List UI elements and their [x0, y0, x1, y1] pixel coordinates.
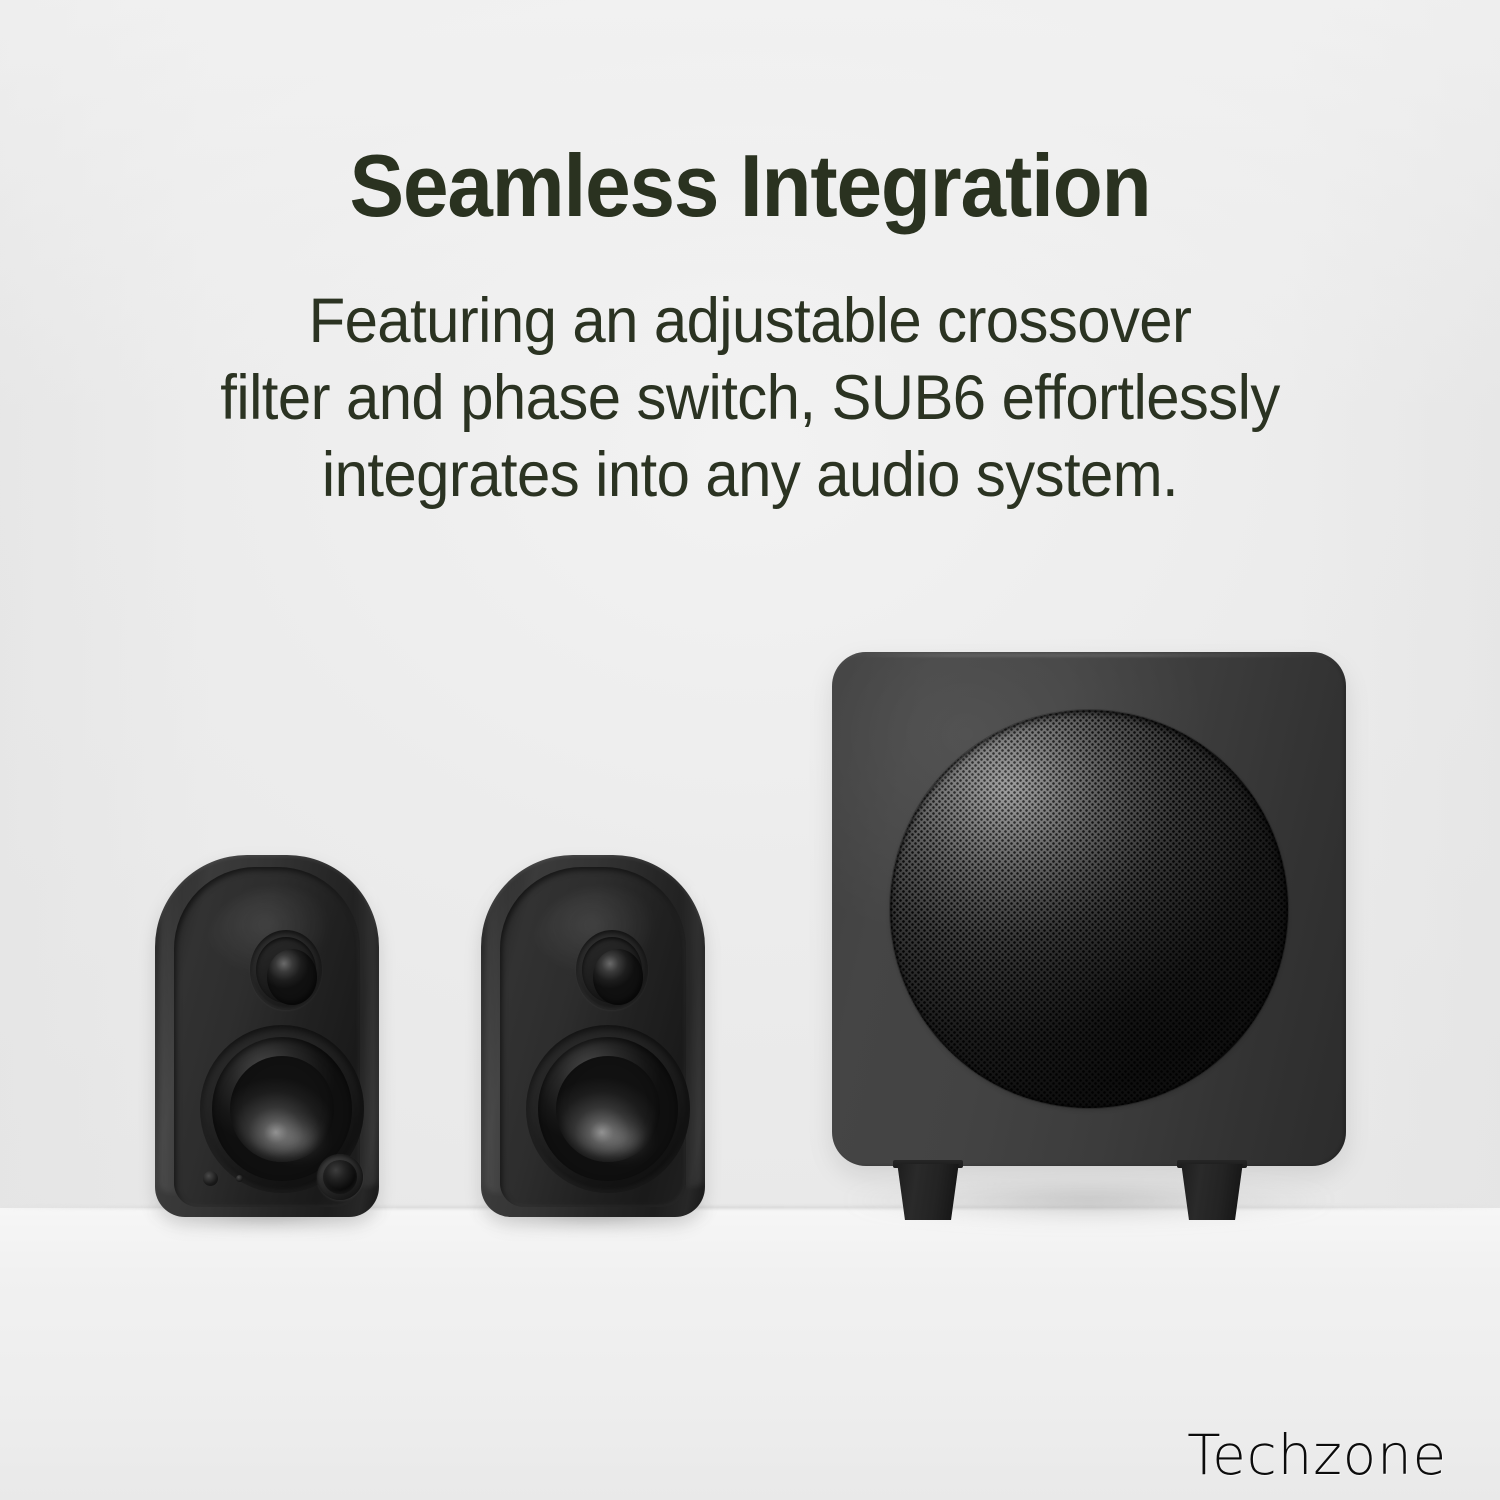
subwoofer-foot-right	[1180, 1164, 1244, 1220]
tweeter-dome	[267, 949, 317, 1005]
right-satellite-speaker	[481, 855, 705, 1217]
subwoofer	[832, 652, 1346, 1166]
woofer-cone	[230, 1056, 334, 1162]
tweeter-driver	[250, 930, 322, 1010]
speaker-baffle	[500, 867, 686, 1207]
subwoofer-foot-left	[896, 1164, 960, 1220]
subtitle-line-1: Featuring an adjustable crossover	[156, 283, 1344, 360]
subwoofer-grille	[890, 710, 1288, 1108]
page-subtitle: Featuring an adjustable crossover filter…	[125, 283, 1375, 514]
grille-rim	[890, 710, 1288, 1108]
status-indicator-led	[236, 1175, 243, 1182]
woofer-cone	[556, 1056, 660, 1162]
power-indicator-led	[203, 1171, 218, 1186]
tweeter-driver	[576, 930, 648, 1010]
tweeter-dome	[593, 949, 643, 1005]
woofer-highlight	[588, 1116, 660, 1164]
subtitle-line-2: filter and phase switch, SUB6 effortless…	[156, 360, 1344, 437]
volume-knob-cap[interactable]	[323, 1160, 357, 1194]
page-title: Seamless Integration	[53, 142, 1448, 230]
tweeter-ring	[582, 937, 642, 1003]
brand-logo: Techzone	[1187, 1428, 1447, 1483]
woofer-surround	[538, 1037, 678, 1181]
woofer-highlight	[262, 1116, 334, 1164]
product-marketing-image: Seamless Integration Featuring an adjust…	[0, 0, 1500, 1500]
speaker-baffle	[174, 867, 360, 1207]
woofer-driver	[526, 1025, 690, 1193]
subwoofer-top-edge-highlight	[840, 654, 1338, 657]
volume-knob[interactable]	[317, 1154, 363, 1200]
tweeter-ring	[256, 937, 316, 1003]
left-satellite-speaker	[155, 855, 379, 1217]
subtitle-line-3: integrates into any audio system.	[156, 437, 1344, 514]
